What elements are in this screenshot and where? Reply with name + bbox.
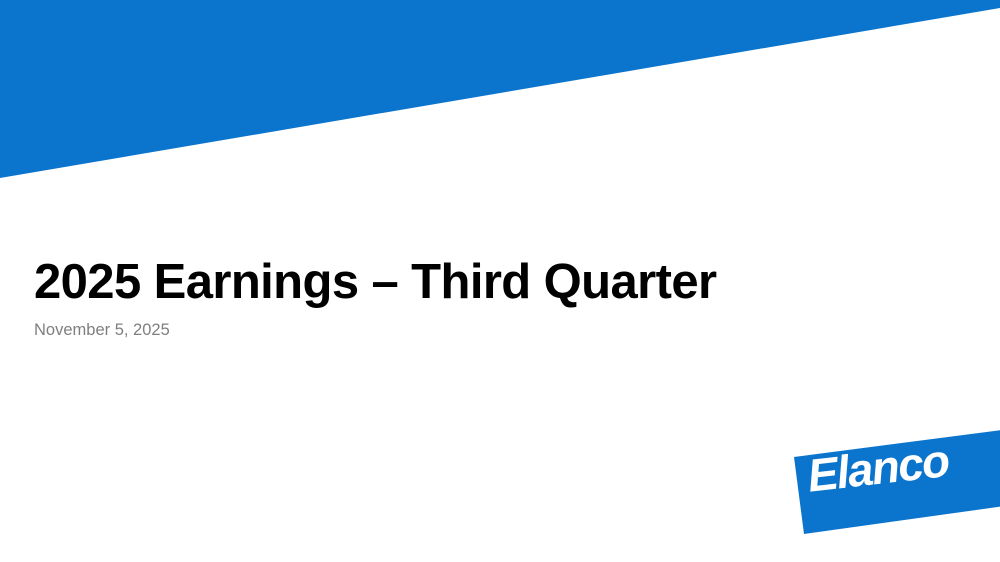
diagonal-blue-banner xyxy=(0,0,1000,200)
slide-date: November 5, 2025 xyxy=(34,310,894,340)
presentation-slide: 2025 Earnings – Third Quarter November 5… xyxy=(0,0,1000,562)
title-block: 2025 Earnings – Third Quarter November 5… xyxy=(34,254,894,340)
page-title: 2025 Earnings – Third Quarter xyxy=(34,254,894,310)
elanco-logo: Elanco xyxy=(786,430,1000,534)
